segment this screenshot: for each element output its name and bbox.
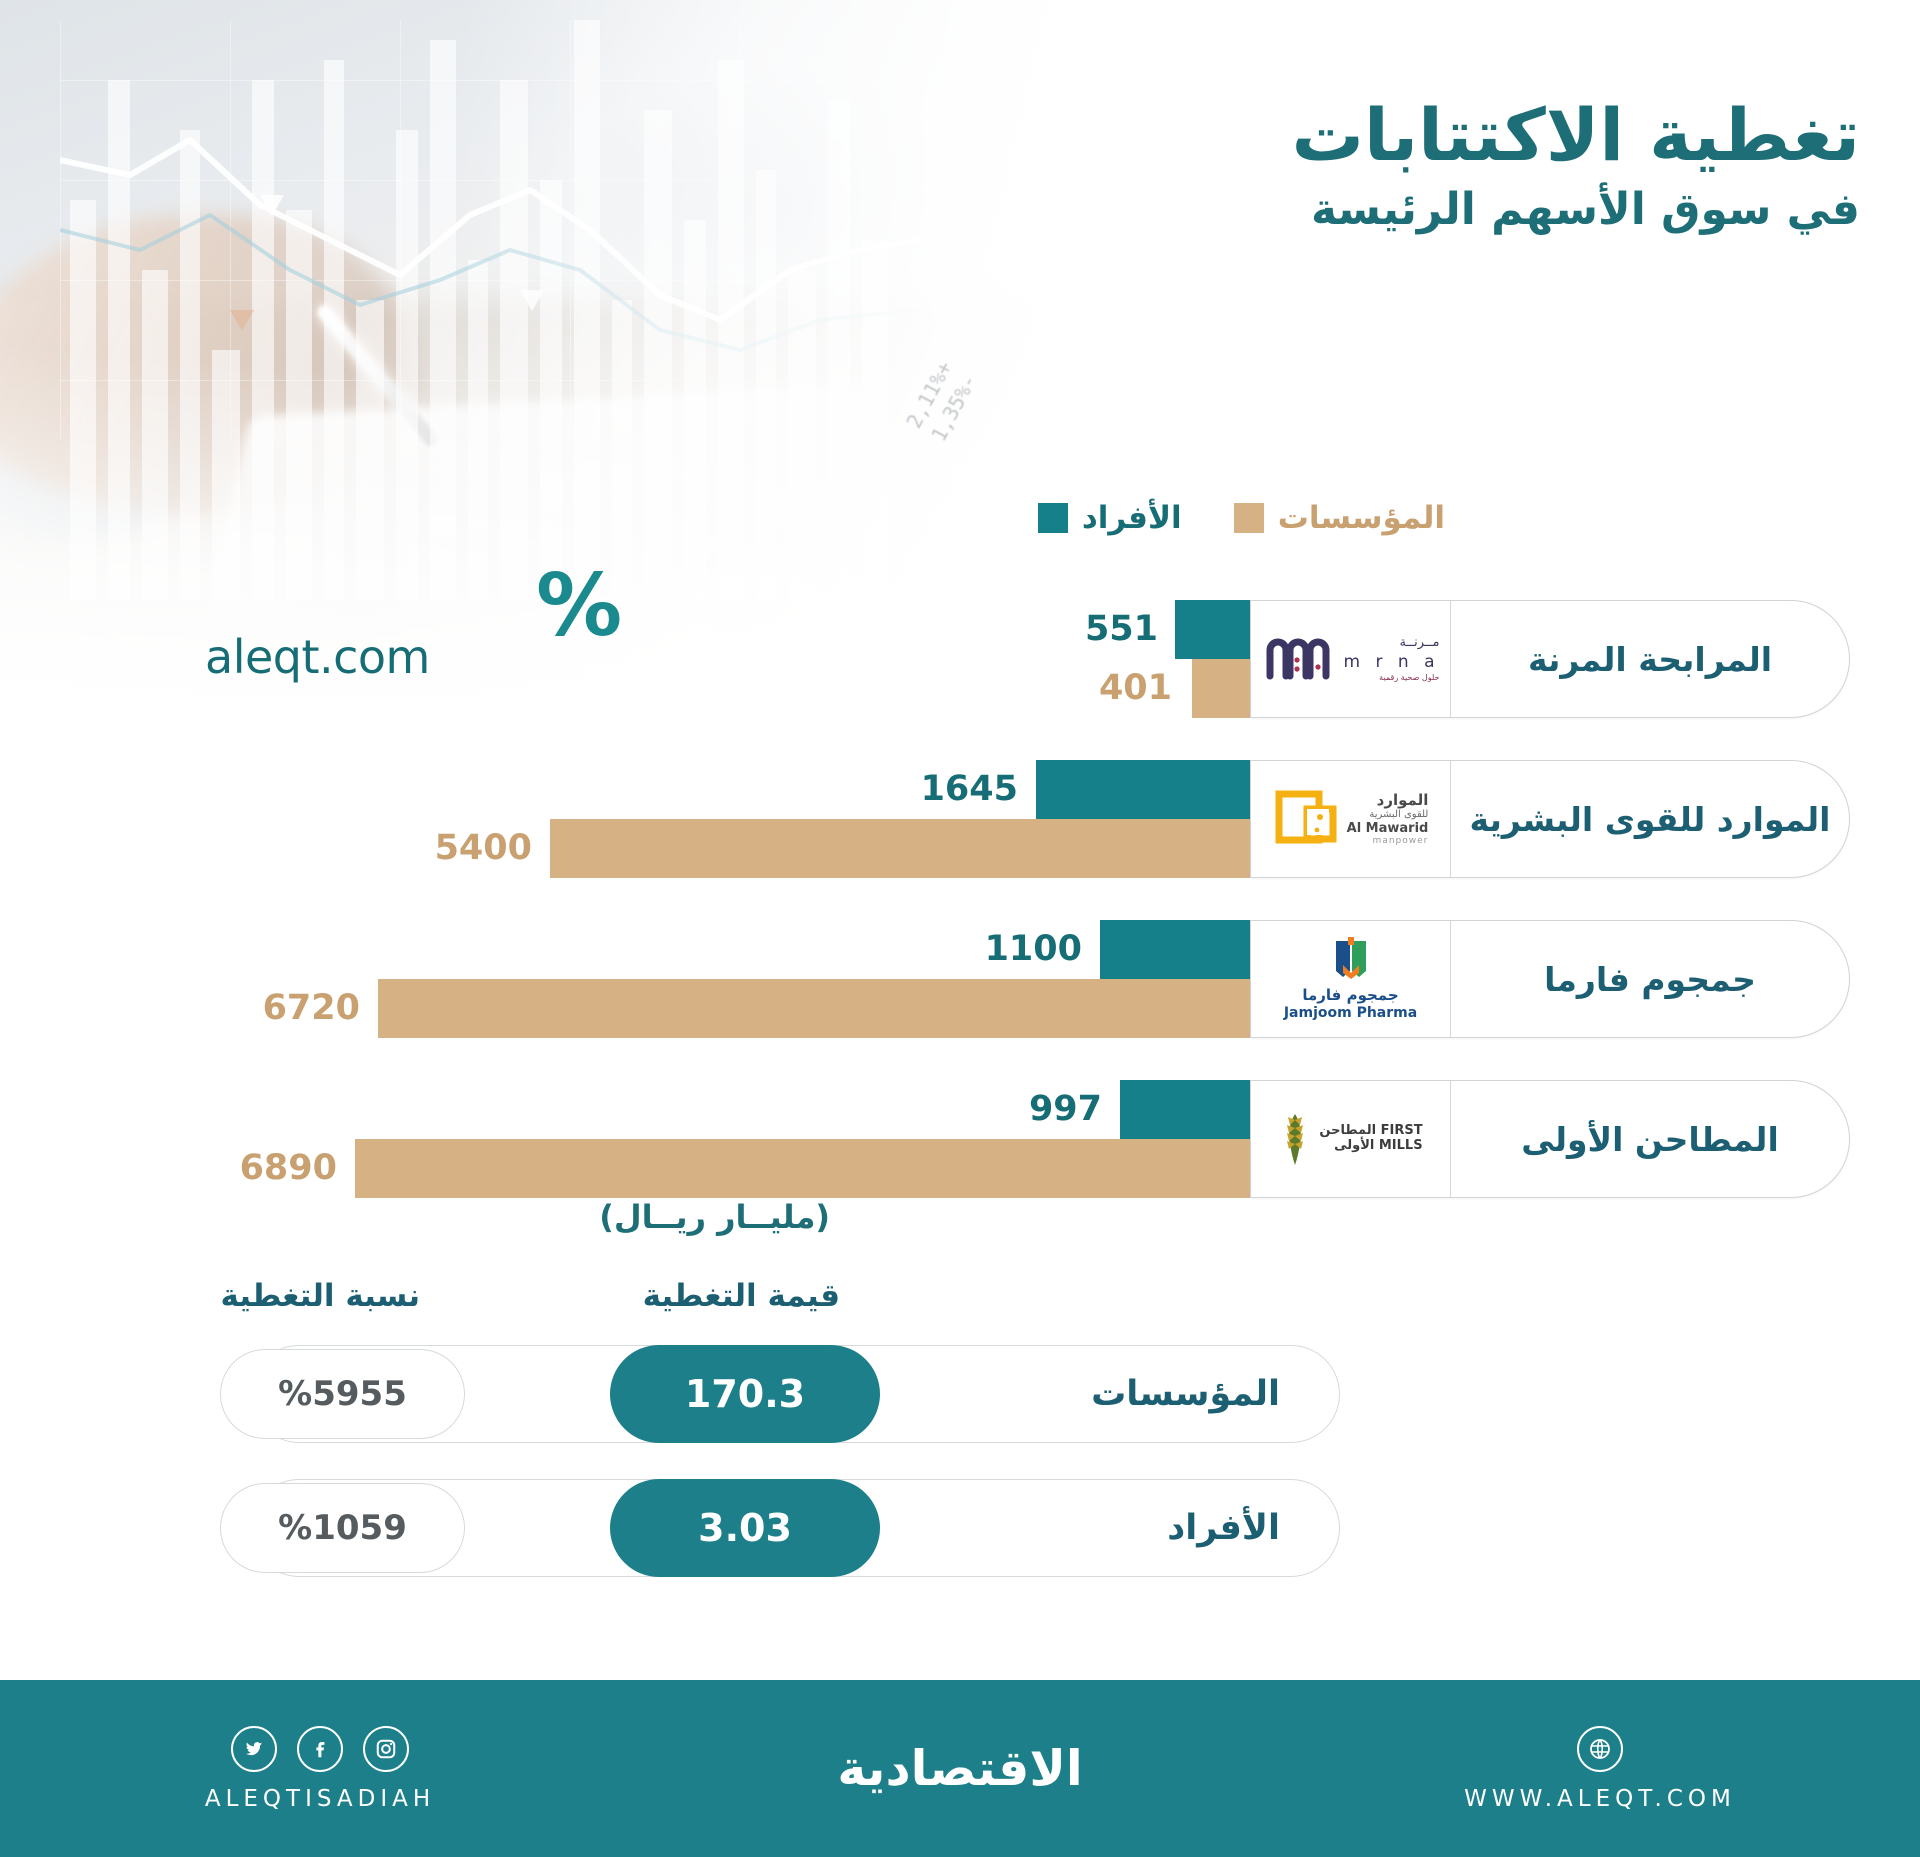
company-name: المطاحن الأولى — [1451, 1120, 1849, 1159]
bar-value-individuals: 1645 — [921, 760, 1018, 819]
logo-mawarid-ar2: للقوى البشرية — [1347, 809, 1429, 821]
summary-value-pill: 3.03 — [610, 1479, 880, 1577]
summary-label: المؤسسات — [1091, 1345, 1280, 1443]
bar-individuals — [1175, 600, 1250, 659]
summary-rows: المؤسسات 170.3 %5955 الأفراد 3.03 %1059 — [0, 1345, 1920, 1613]
company-name: الموارد للقوى البشرية — [1451, 800, 1849, 839]
logo-mills-row2: MILLS الأولى — [1319, 1139, 1422, 1154]
company-card[interactable]: جمجوم فارما جمجوم فارما Jamjoom Pharma — [1250, 920, 1850, 1038]
instagram-icon[interactable] — [363, 1726, 409, 1772]
company-card[interactable]: المرابحة المرنة مــرنــة m r n a حلول صح… — [1250, 600, 1850, 718]
company-logo-mrna: مــرنــة m r n a حلول صحية رقمية — [1251, 601, 1451, 717]
logo-jamjoom-ar: جمجوم فارما — [1284, 986, 1417, 1005]
bar-individuals — [1120, 1080, 1250, 1139]
bar-individuals — [1036, 760, 1250, 819]
company-card[interactable]: الموارد للقوى البشرية الموارد للقوى البش… — [1250, 760, 1850, 878]
page-footer: ALEQTISADIAH الاقتصادية WWW.ALEQT.COM — [0, 1680, 1920, 1857]
bar-value-institutions: 5400 — [435, 819, 532, 878]
page-subtitle: في سوق الأسهم الرئيسة — [1292, 184, 1860, 237]
legend-label-individuals: الأفراد — [1082, 500, 1182, 536]
bar-individuals — [1100, 920, 1250, 979]
bar-chart-rows: المرابحة المرنة مــرنــة m r n a حلول صح… — [0, 600, 1920, 1240]
row-bars: 1100 6720 — [0, 920, 1250, 1038]
legend-item-institutions: المؤسسات — [1234, 500, 1445, 536]
company-logo-mawarid: الموارد للقوى البشرية Al Mawarid manpowe… — [1251, 761, 1451, 877]
bar-value-institutions: 6720 — [263, 979, 360, 1038]
logo-mrna-ar: مــرنــة — [1344, 635, 1440, 651]
summary-ratio-chip: %1059 — [220, 1483, 465, 1573]
bar-value-institutions: 6890 — [240, 1139, 337, 1198]
social-icons — [0, 1726, 640, 1772]
summary-unit-label: (مليــار ريــال) — [599, 1198, 830, 1236]
footer-website-block: WWW.ALEQT.COM — [1280, 1726, 1920, 1812]
logo-mills-row1: FIRST المطاحن — [1319, 1124, 1422, 1139]
company-card[interactable]: المطاحن الأولى FIRST المطاحن MILLS الأول… — [1250, 1080, 1850, 1198]
logo-mawarid-en2: manpower — [1347, 836, 1429, 847]
bar-value-individuals: 997 — [1029, 1080, 1102, 1139]
footer-website-icon-wrap — [1280, 1726, 1920, 1772]
logo-mawarid-en1: Al Mawarid — [1347, 821, 1429, 837]
bar-institutions — [550, 819, 1250, 878]
company-name: جمجوم فارما — [1451, 960, 1849, 999]
row-bars: 1645 5400 — [0, 760, 1250, 878]
chart-legend: المؤسسات الأفراد — [1038, 500, 1445, 536]
logo-mrna-en: m r n a — [1344, 652, 1440, 673]
summary-row-individuals: الأفراد 3.03 %1059 — [0, 1479, 1920, 1577]
logo-mrna-tag: حلول صحية رقمية — [1344, 673, 1440, 683]
bar-institutions — [1192, 659, 1250, 718]
bar-institutions — [355, 1139, 1250, 1198]
mrna-mark-icon — [1262, 636, 1338, 682]
legend-item-individuals: الأفراد — [1038, 500, 1182, 536]
footer-brand-logo: الاقتصادية — [640, 1740, 1280, 1797]
logo-mills-ar2: الأولى — [1334, 1138, 1374, 1153]
company-logo-mills: FIRST المطاحن MILLS الأولى — [1251, 1081, 1451, 1197]
legend-swatch-individuals — [1038, 503, 1068, 533]
row-bars: 997 6890 — [0, 1080, 1250, 1198]
summary-value-pill: 170.3 — [610, 1345, 880, 1443]
company-name: المرابحة المرنة — [1451, 640, 1849, 679]
company-logo-jamjoom: جمجوم فارما Jamjoom Pharma — [1251, 921, 1451, 1037]
infographic-canvas: +17,28-11,28+13,28-22,28+17,28-11,28+13,… — [0, 0, 1920, 1857]
summary-header-coverage-value: قيمة التغطية — [643, 1278, 840, 1314]
logo-jamjoom-en: Jamjoom Pharma — [1284, 1005, 1417, 1023]
legend-swatch-institutions — [1234, 503, 1264, 533]
bar-value-individuals: 1100 — [985, 920, 1082, 979]
summary-row-institutions: المؤسسات 170.3 %5955 — [0, 1345, 1920, 1443]
table-row: الموارد للقوى البشرية الموارد للقوى البش… — [0, 760, 1920, 878]
bar-value-institutions: 401 — [1099, 659, 1172, 718]
footer-website: WWW.ALEQT.COM — [1280, 1786, 1920, 1812]
summary-label: الأفراد — [1167, 1479, 1280, 1577]
bar-value-individuals: 551 — [1085, 600, 1158, 659]
table-row: المطاحن الأولى FIRST المطاحن MILLS الأول… — [0, 1080, 1920, 1198]
facebook-icon[interactable] — [297, 1726, 343, 1772]
twitter-icon[interactable] — [231, 1726, 277, 1772]
jamjoom-mark-icon — [1326, 935, 1376, 981]
logo-mills-en2: MILLS — [1379, 1138, 1423, 1153]
row-bars: 551 401 — [0, 600, 1250, 718]
mills-wheat-icon — [1278, 1112, 1312, 1166]
table-row: جمجوم فارما جمجوم فارما Jamjoom Pharma — [0, 920, 1920, 1038]
page-title: تغطية الاكتتابات — [1292, 95, 1860, 176]
summary-header-coverage-ratio: نسبة التغطية — [220, 1278, 420, 1314]
summary-ratio-chip: %5955 — [220, 1349, 465, 1439]
bar-institutions — [378, 979, 1250, 1038]
table-row: المرابحة المرنة مــرنــة m r n a حلول صح… — [0, 600, 1920, 718]
globe-icon[interactable] — [1577, 1726, 1623, 1772]
logo-mills-en1: FIRST — [1381, 1123, 1423, 1138]
footer-social-block: ALEQTISADIAH — [0, 1726, 640, 1812]
legend-label-institutions: المؤسسات — [1278, 500, 1445, 536]
mawarid-mark-icon — [1273, 789, 1339, 849]
footer-social-handle: ALEQTISADIAH — [0, 1786, 640, 1812]
logo-mills-ar1: المطاحن — [1319, 1123, 1376, 1138]
page-title-block: تغطية الاكتتابات في سوق الأسهم الرئيسة — [1292, 95, 1860, 236]
footer-brand-block: الاقتصادية — [640, 1740, 1280, 1797]
logo-mawarid-ar1: الموارد — [1347, 791, 1429, 809]
